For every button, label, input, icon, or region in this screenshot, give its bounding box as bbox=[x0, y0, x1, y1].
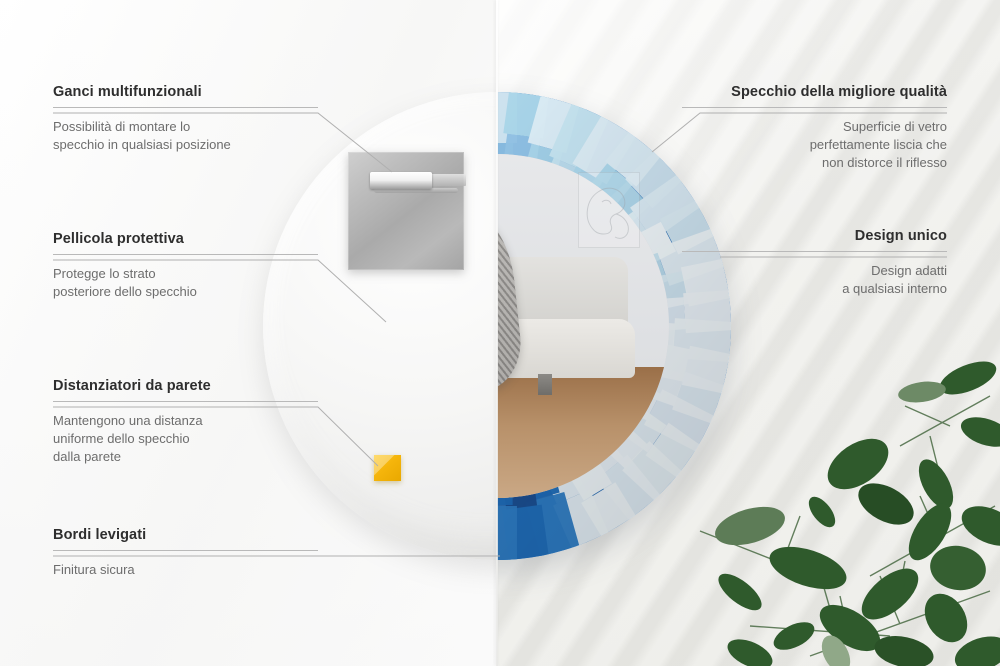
callout-specchio-qualita: Specchio della migliore qualità Superfic… bbox=[682, 84, 947, 172]
callout-title: Bordi levigati bbox=[53, 527, 318, 543]
callout-ganci: Ganci multifunzionali Possibilità di mon… bbox=[53, 84, 318, 154]
callout-rule bbox=[53, 254, 318, 255]
callout-pellicola: Pellicola protettiva Protegge lo strato … bbox=[53, 231, 318, 301]
callout-description: Protegge lo strato posteriore dello spec… bbox=[53, 265, 318, 301]
callout-title: Ganci multifunzionali bbox=[53, 84, 318, 100]
callout-rule bbox=[682, 107, 947, 108]
callout-title: Specchio della migliore qualità bbox=[682, 84, 947, 100]
callout-title: Design unico bbox=[682, 228, 947, 244]
callout-description: Possibilità di montare lo specchio in qu… bbox=[53, 118, 318, 154]
callout-description: Design adatti a qualsiasi interno bbox=[682, 262, 947, 298]
callout-title: Pellicola protettiva bbox=[53, 231, 318, 247]
callout-rule bbox=[53, 401, 318, 402]
callout-title: Distanziatori da parete bbox=[53, 378, 318, 394]
callout-rule bbox=[53, 107, 318, 108]
callout-description: Superficie di vetro perfettamente liscia… bbox=[682, 118, 947, 172]
infographic-canvas: Ganci multifunzionali Possibilità di mon… bbox=[0, 0, 1000, 666]
callout-rule bbox=[53, 550, 318, 551]
callout-distanziatori: Distanziatori da parete Mantengono una d… bbox=[53, 378, 318, 466]
callout-rule bbox=[682, 251, 947, 252]
callout-design-unico: Design unico Design adatti a qualsiasi i… bbox=[682, 228, 947, 298]
callout-bordi: Bordi levigati Finitura sicura bbox=[53, 527, 318, 579]
callout-description: Mantengono una distanza uniforme dello s… bbox=[53, 412, 318, 466]
callout-description: Finitura sicura bbox=[53, 561, 318, 579]
